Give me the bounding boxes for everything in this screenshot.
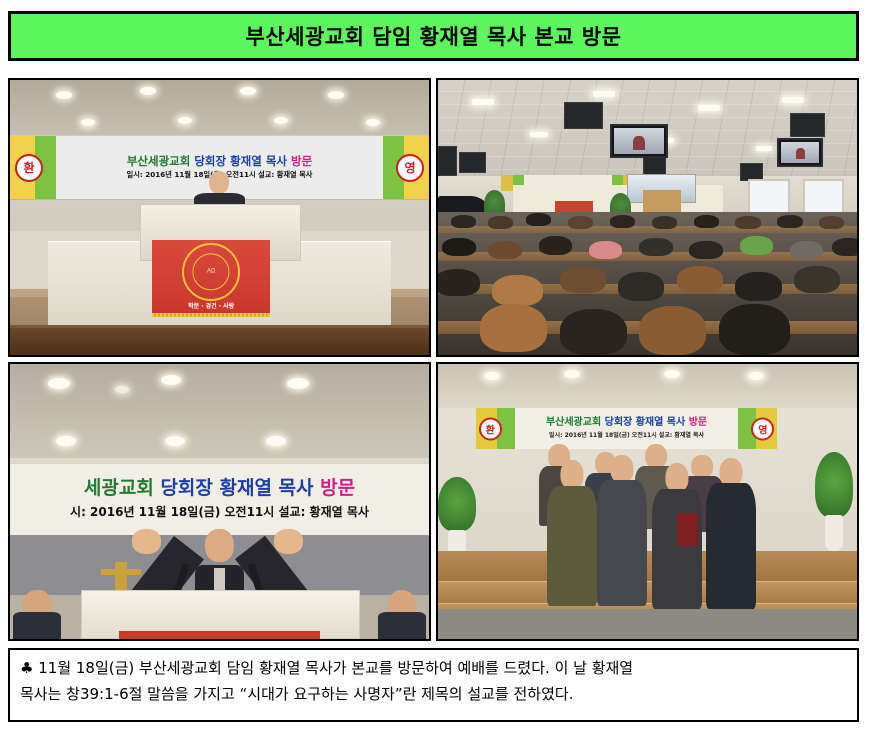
ceiling xyxy=(438,364,857,408)
ceiling-light-icon xyxy=(81,119,95,126)
ceiling-light-icon xyxy=(472,99,494,105)
seal-welcome-left: 환 xyxy=(15,154,43,182)
attendee-head xyxy=(492,275,542,306)
attendee-head xyxy=(560,266,606,293)
attendee-head xyxy=(735,216,760,229)
floor xyxy=(438,609,857,639)
attendee-body xyxy=(13,612,61,639)
ceiling-light-icon xyxy=(366,119,380,126)
article-page: 부산세광교회 담임 황재열 목사 본교 방문 부산세광교회 xyxy=(0,0,875,731)
banner-headline: 세광교회 당회장 황재열 목사 방문 xyxy=(84,479,355,498)
member-body xyxy=(547,486,597,606)
ceiling-light-icon xyxy=(287,378,309,389)
preacher-hand-left xyxy=(132,529,161,554)
attendee-head xyxy=(790,241,824,260)
attendee-head xyxy=(438,269,480,296)
member-head xyxy=(611,455,634,484)
tv-monitor xyxy=(777,138,823,167)
photo-grid: 부산세광교회 당회장 황재열 목사 방문 일시: 2016년 11월 18일(금… xyxy=(8,78,859,641)
attendee-head xyxy=(719,304,790,355)
attendee-head xyxy=(488,241,522,260)
banner-part-visit: 방문 xyxy=(291,154,312,168)
seated-attendee-left xyxy=(10,590,64,640)
tv-screen-figure xyxy=(796,148,805,159)
photo-congregation xyxy=(438,80,857,355)
bible-book xyxy=(677,513,698,546)
group-member-front-1 xyxy=(547,460,597,606)
page-title-banner: 부산세광교회 담임 황재열 목사 본교 방문 xyxy=(8,11,859,61)
attendee-head xyxy=(451,215,476,228)
banner-headline: 부산세광교회 당회장 황재열 목사 방문 xyxy=(127,155,312,168)
plant-vase xyxy=(825,515,843,551)
banner-subline: 일시: 2016년 11월 18일(금) 오전11시 설교: 황재열 목사 xyxy=(549,430,704,439)
welcome-banner: 부산세광교회 당회장 황재열 목사 방문 일시: 2016년 11월 18일(금… xyxy=(476,408,778,449)
group-member-front-4 xyxy=(706,458,756,609)
ceiling-light-icon xyxy=(48,378,70,389)
attendee-head xyxy=(694,215,719,228)
banner-part-church: 부산세광교회 xyxy=(546,417,601,428)
attendee-head xyxy=(568,216,593,229)
attendee-head xyxy=(618,272,664,301)
caption-box: ♣ 11월 18일(금) 부산세광교회 담임 황재열 목사가 본교를 방문하여 … xyxy=(8,648,859,722)
bible-cover xyxy=(677,513,698,546)
attendee-head xyxy=(777,215,802,228)
preacher-head xyxy=(205,529,233,562)
banner-part-title: 당회장 황재열 목사 xyxy=(194,154,287,168)
speaker-icon xyxy=(459,152,486,173)
podium-drape xyxy=(119,631,320,639)
photo-preaching: 세광교회 당회장 황재열 목사 방문 시: 2016년 11월 18일(금) 오… xyxy=(10,364,429,639)
caption-text-1: 11월 18일(금) 부산세광교회 담임 황재열 목사가 본교를 방문하여 예배… xyxy=(38,659,633,677)
ceiling-light-icon xyxy=(782,97,804,103)
attendee-head xyxy=(526,213,551,226)
club-bullet-icon: ♣ xyxy=(20,659,33,677)
page-title: 부산세광교회 담임 황재열 목사 본교 방문 xyxy=(246,21,622,51)
attendee-head xyxy=(832,238,857,257)
caption-line-1: ♣ 11월 18일(금) 부산세광교회 담임 황재열 목사가 본교를 방문하여 … xyxy=(20,656,847,682)
ceiling-light-icon xyxy=(593,91,615,97)
congregation-crowd xyxy=(438,212,857,355)
banner-part-title: 당회장 황재열 목사 xyxy=(160,477,313,499)
potted-plant-right xyxy=(815,452,853,551)
ceiling-light-icon xyxy=(140,87,156,95)
photo-group: 부산세광교회 당회장 황재열 목사 방문 일시: 2016년 11월 18일(금… xyxy=(438,364,857,639)
ceiling xyxy=(10,80,429,138)
tv-monitor xyxy=(610,124,668,158)
plant-leaves xyxy=(438,477,476,531)
member-body xyxy=(706,483,756,609)
banner-part-church: 부산세광교회 xyxy=(127,154,190,168)
preacher-head xyxy=(210,171,230,194)
attendee-head xyxy=(539,236,573,255)
attendee-head xyxy=(677,266,723,293)
attendee-head xyxy=(639,306,706,355)
banner-subline: 시: 2016년 11월 18일(금) 오전11시 설교: 황재열 목사 xyxy=(70,503,369,520)
tv-screen-figure xyxy=(633,136,645,150)
attendee-head xyxy=(560,309,627,355)
attendee-head xyxy=(689,241,723,260)
tv-screen xyxy=(781,142,819,163)
ceiling-light-icon xyxy=(161,375,181,385)
ceiling-light-icon xyxy=(698,105,720,111)
attendee-head xyxy=(480,304,547,353)
photo-cell-bottom-right[interactable]: 부산세광교회 당회장 황재열 목사 방문 일시: 2016년 11월 18일(금… xyxy=(436,362,859,641)
photo-pulpit-banner: 부산세광교회 당회장 황재열 목사 방문 일시: 2016년 11월 18일(금… xyxy=(10,80,429,355)
member-head xyxy=(665,463,688,492)
ceiling-light-icon xyxy=(165,436,185,446)
attendee-head xyxy=(794,266,840,293)
attendee-head xyxy=(819,216,844,229)
floor xyxy=(10,325,429,355)
speaker-icon xyxy=(438,146,457,176)
attendee-head xyxy=(488,216,513,229)
emblem-center-text: ΑΩ xyxy=(207,269,216,275)
group-member-front-2 xyxy=(597,455,647,606)
ceiling-light-icon xyxy=(56,91,72,99)
member-body xyxy=(597,480,647,606)
member-head xyxy=(561,460,584,489)
seal-welcome-left: 환 xyxy=(479,417,502,440)
ceiling-light-icon xyxy=(178,117,192,124)
ceiling-light-icon xyxy=(56,436,76,446)
attendee-head xyxy=(442,238,476,257)
drape-fringe xyxy=(152,313,269,317)
banner-part-visit: 방문 xyxy=(320,477,355,499)
ceiling-light-icon xyxy=(756,146,772,151)
emblem-motto: 학문 · 경건 · 사랑 xyxy=(152,301,269,310)
pulpit-drape: ΑΩ 학문 · 경건 · 사랑 xyxy=(152,240,269,317)
ceiling-light-icon xyxy=(664,370,680,378)
attendee-head xyxy=(740,236,774,255)
speaker-icon xyxy=(564,102,604,129)
ceiling-light-icon xyxy=(564,370,580,378)
seated-attendee-right xyxy=(375,590,429,640)
member-body xyxy=(652,489,702,609)
speaker-icon xyxy=(790,113,826,137)
plant-leaves xyxy=(815,452,853,517)
welcome-banner: 세광교회 당회장 황재열 목사 방문 시: 2016년 11월 18일(금) 오… xyxy=(10,463,429,537)
attendee-head xyxy=(652,216,677,229)
seal-welcome-right: 영 xyxy=(751,417,774,440)
attendee-head xyxy=(589,241,623,260)
caption-line-2: 목사는 창39:1-6절 말씀을 가지고 “시대가 요구하는 사명자”란 제목의… xyxy=(20,682,847,708)
stage-step xyxy=(438,581,857,604)
seal-welcome-right: 영 xyxy=(396,154,424,182)
attendee-head xyxy=(639,238,673,257)
photo-cell-bottom-left[interactable]: 세광교회 당회장 황재열 목사 방문 시: 2016년 11월 18일(금) 오… xyxy=(8,362,431,641)
ceiling-light-icon xyxy=(266,436,286,446)
attendee-head xyxy=(735,272,781,301)
ceiling-light-icon xyxy=(115,386,129,393)
banner-headline: 부산세광교회 당회장 황재열 목사 방문 xyxy=(546,418,707,429)
attendee-head xyxy=(610,215,635,228)
banner-part-visit: 방문 xyxy=(689,417,707,428)
ceiling-light-icon xyxy=(530,132,548,137)
photo-cell-top-right[interactable] xyxy=(436,78,859,357)
attendee-body xyxy=(378,612,426,639)
banner-part-title: 당회장 황재열 목사 xyxy=(605,417,686,428)
tv-screen xyxy=(614,128,664,154)
member-head xyxy=(720,458,743,487)
banner-part-church: 세광교회 xyxy=(84,477,154,499)
potted-plant-left xyxy=(438,477,476,560)
caption-text-2: 목사는 창39:1-6절 말씀을 가지고 “시대가 요구하는 사명자”란 제목의… xyxy=(20,685,573,703)
preacher-hand-right xyxy=(274,529,303,554)
photo-cell-top-left[interactable]: 부산세광교회 당회장 황재열 목사 방문 일시: 2016년 11월 18일(금… xyxy=(8,78,431,357)
